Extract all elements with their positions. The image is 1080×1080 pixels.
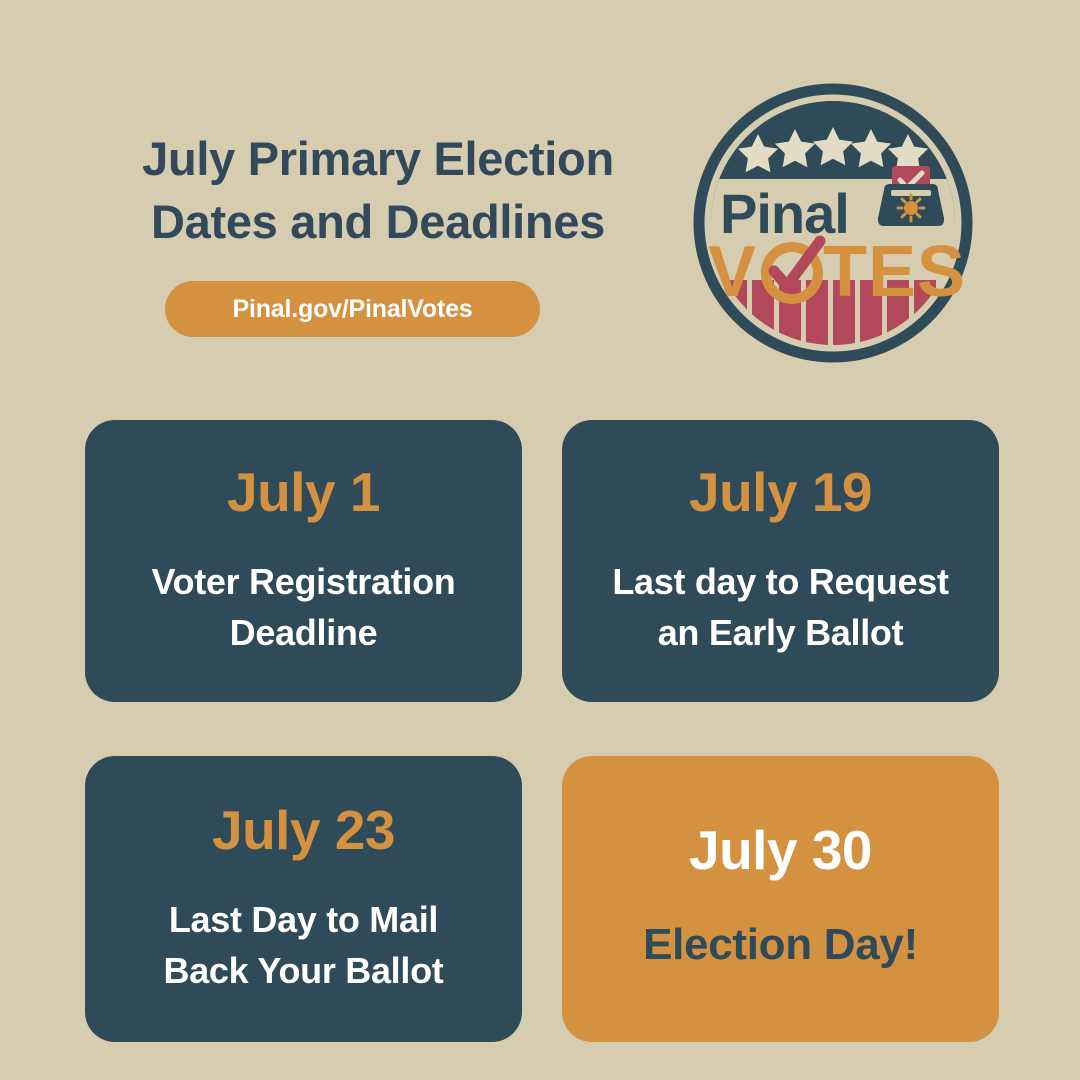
card-label-line-2: Back Your Ballot [164,950,444,991]
deadline-card-july-19[interactable]: July 19 Last day to Request an Early Bal… [562,420,999,702]
card-label-line-2: Deadline [230,612,378,653]
poster-header: July Primary Election Dates and Deadline… [0,0,1080,400]
card-label: Last day to Request an Early Ballot [612,556,948,658]
card-date: July 23 [212,802,395,860]
card-label-line-2: an Early Ballot [658,612,904,653]
page-title-line-1: July Primary Election [88,128,668,191]
card-label-line-1: Last day to Request [612,561,948,602]
sun-burst-icon [898,195,924,221]
election-dates-poster: July Primary Election Dates and Deadline… [0,0,1080,1080]
card-date: July 19 [689,464,872,522]
website-url-pill[interactable]: Pinal.gov/PinalVotes [165,281,540,337]
deadline-card-july-30[interactable]: July 30 Election Day! [562,756,999,1042]
card-label-line-1: Last Day to Mail [169,899,438,940]
card-label-line-1: Voter Registration [152,561,456,602]
card-label-line-1: Election Day! [643,920,918,969]
deadline-card-grid: July 1 Voter Registration Deadline July … [85,420,995,1042]
card-label: Election Day! [643,914,918,976]
card-date: July 30 [689,822,872,880]
card-date: July 1 [227,464,380,522]
page-title-line-2: Dates and Deadlines [88,191,668,254]
card-label: Last Day to Mail Back Your Ballot [164,894,444,996]
card-label: Voter Registration Deadline [152,556,456,658]
page-title: July Primary Election Dates and Deadline… [88,128,668,253]
deadline-card-july-1[interactable]: July 1 Voter Registration Deadline [85,420,522,702]
deadline-card-july-23[interactable]: July 23 Last Day to Mail Back Your Ballo… [85,756,522,1042]
svg-text:V: V [708,232,757,312]
svg-text:TES: TES [823,232,966,312]
logo-votes-text: V TES [708,232,966,312]
pinal-votes-logo: Pinal [688,78,978,368]
